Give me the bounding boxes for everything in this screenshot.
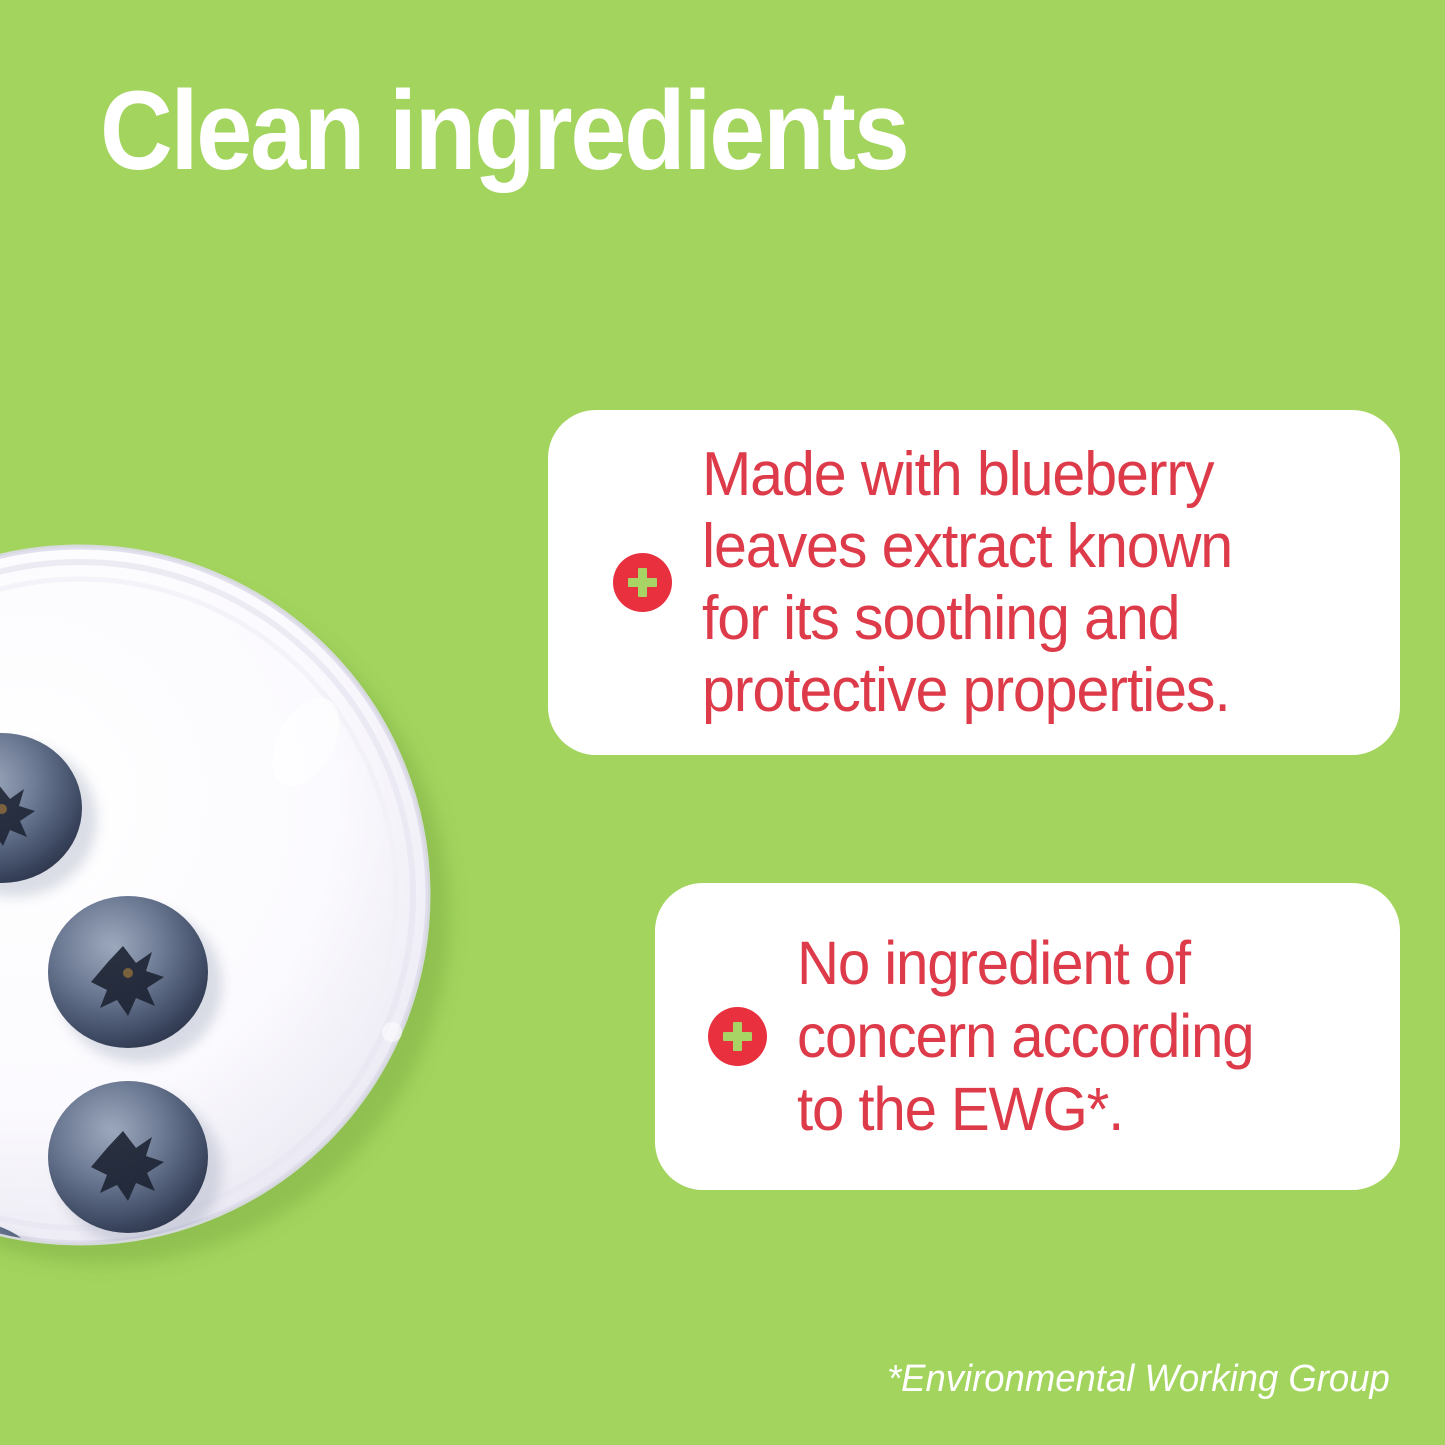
page-title: Clean ingredients [100, 72, 908, 190]
benefit-card-ingredient-text: Made with blueberry leaves extract known… [702, 439, 1232, 727]
benefit-card-ingredient: Made with blueberry leaves extract known… [548, 410, 1400, 755]
blueberry-petri-dish-photo [0, 520, 550, 1320]
plus-icon [708, 1007, 767, 1066]
clean-ingredients-panel: Clean ingredients [0, 0, 1445, 1445]
footnote: *Environmental Working Group [887, 1358, 1390, 1401]
benefit-card-ewg: No ingredient of concern according to th… [655, 883, 1400, 1190]
plus-icon [613, 553, 672, 612]
benefit-card-ewg-text: No ingredient of concern according to th… [797, 927, 1254, 1146]
